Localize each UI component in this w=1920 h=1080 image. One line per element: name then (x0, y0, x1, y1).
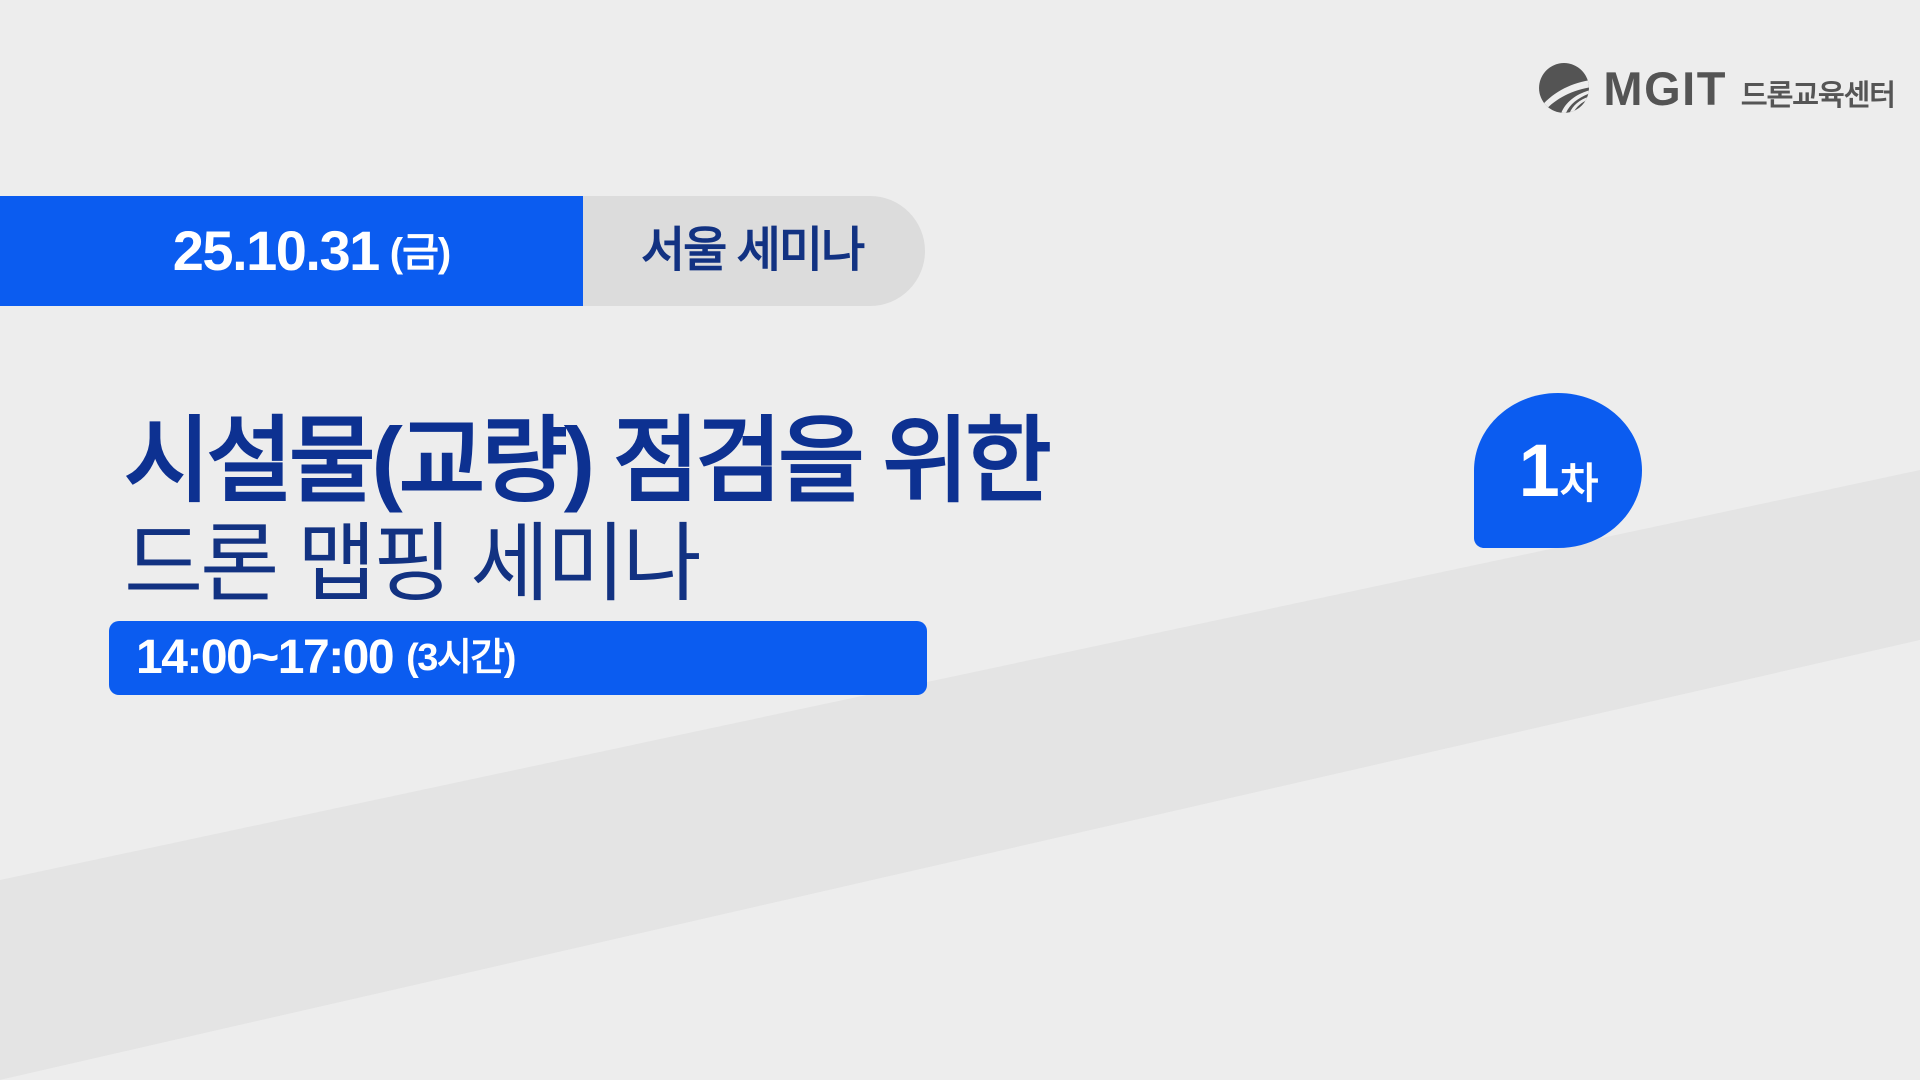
headline: 시설물(교량) 점검을 위한 드론 맵핑 세미나 (124, 406, 1048, 616)
event-meta-row: 25.10.31 (금) 서울 세미나 (0, 196, 925, 306)
headline-line-1: 시설물(교량) 점검을 위한 (124, 406, 1048, 515)
date-value: 25.10.31 (173, 223, 379, 279)
location-label: 서울 세미나 (641, 227, 863, 275)
session-badge: 1 차 (1474, 393, 1642, 548)
brand-name: MGIT (1603, 65, 1726, 112)
date-weekday: (금) (390, 233, 450, 273)
seminar-banner: MGIT 드론교육센터 25.10.31 (금) 서울 세미나 시설물(교량) … (0, 0, 1920, 1080)
session-suffix: 차 (1560, 463, 1598, 505)
brand-subname: 드론교육센터 (1741, 82, 1895, 111)
session-badge-label: 1 차 (1474, 393, 1642, 548)
schedule-time-range: 14:00~17:00 (136, 634, 393, 682)
schedule-duration: (3시간) (406, 639, 515, 677)
session-number: 1 (1519, 434, 1558, 508)
schedule-bar: 14:00~17:00 (3시간) (109, 621, 927, 695)
mgit-road-circle-icon (1538, 62, 1590, 114)
date-badge: 25.10.31 (금) (0, 196, 583, 306)
brand-text: MGIT 드론교육센터 (1603, 65, 1895, 112)
brand-logo: MGIT 드론교육센터 (1538, 62, 1895, 114)
location-badge: 서울 세미나 (583, 196, 925, 306)
headline-line-2: 드론 맵핑 세미나 (124, 513, 1048, 616)
